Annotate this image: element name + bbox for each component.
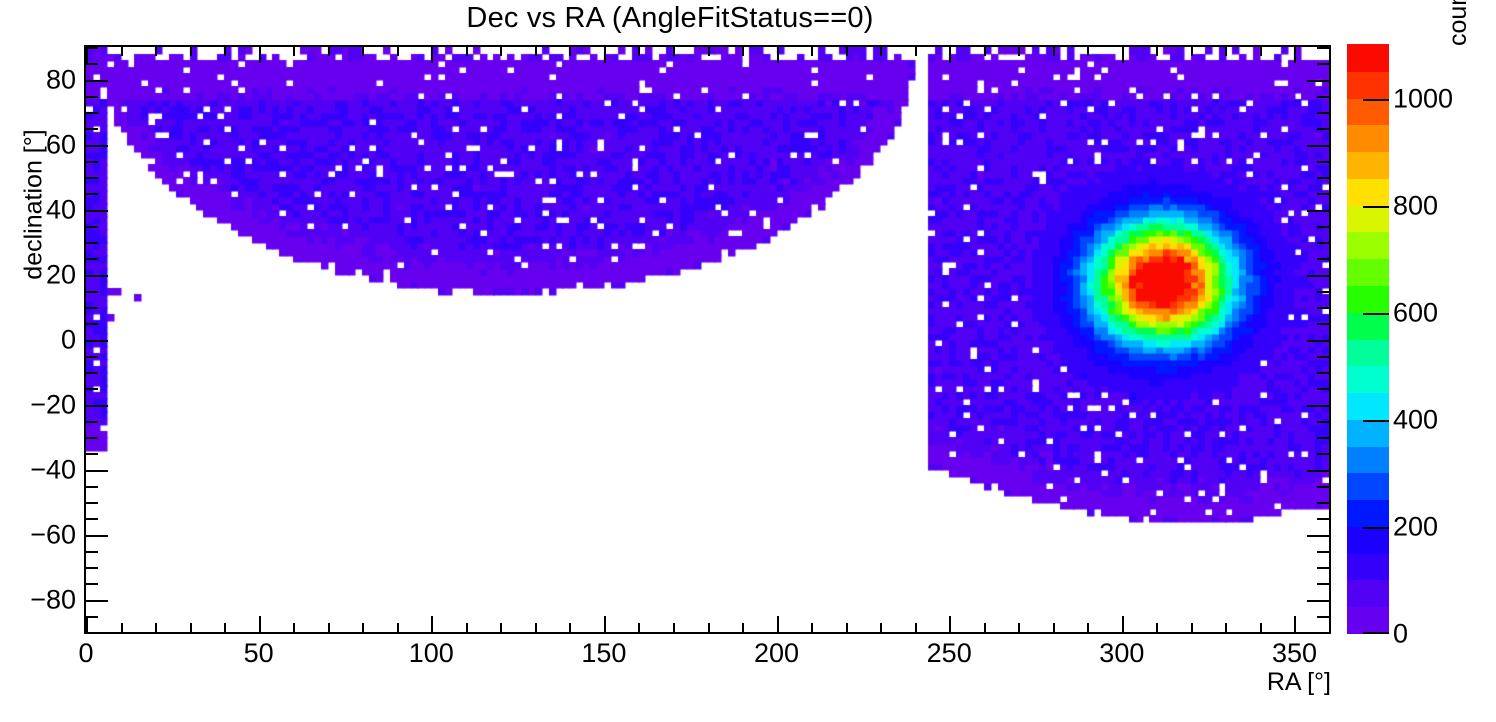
y-minor-tick bbox=[86, 486, 98, 488]
x-major-tick bbox=[1122, 616, 1124, 632]
x-minor-tick-top bbox=[328, 47, 330, 56]
y-minor-tick bbox=[86, 323, 98, 325]
colorbar-band bbox=[1347, 419, 1389, 446]
y-major-tick bbox=[86, 405, 108, 407]
x-minor-tick-top bbox=[915, 47, 917, 56]
y-tick-label: 60 bbox=[46, 129, 76, 160]
x-minor-tick-top bbox=[880, 47, 882, 56]
y-minor-tick-right bbox=[1317, 486, 1329, 488]
x-minor-tick bbox=[500, 623, 502, 632]
y-minor-tick bbox=[86, 96, 98, 98]
y-minor-tick bbox=[86, 193, 98, 195]
colorbar-band bbox=[1347, 232, 1389, 259]
x-minor-tick-top bbox=[1087, 47, 1089, 56]
y-major-tick-right bbox=[1307, 145, 1329, 147]
colorbar-tick bbox=[1363, 313, 1389, 315]
y-minor-tick bbox=[86, 583, 98, 585]
x-minor-tick-top bbox=[708, 47, 710, 56]
y-minor-tick bbox=[86, 421, 98, 423]
x-major-tick-top bbox=[431, 47, 433, 63]
x-major-tick-top bbox=[949, 47, 951, 63]
y-minor-tick-right bbox=[1317, 356, 1329, 358]
x-tick-label: 50 bbox=[244, 638, 274, 669]
x-minor-tick bbox=[293, 623, 295, 632]
y-tick-label: −60 bbox=[30, 519, 76, 550]
x-minor-tick bbox=[535, 623, 537, 632]
y-tick-label: −80 bbox=[30, 584, 76, 615]
y-minor-tick bbox=[86, 226, 98, 228]
y-minor-tick bbox=[86, 551, 98, 553]
x-minor-tick-top bbox=[1053, 47, 1055, 56]
x-tick-label: 300 bbox=[1099, 638, 1144, 669]
y-minor-tick bbox=[86, 161, 98, 163]
colorbar-band bbox=[1347, 473, 1389, 500]
x-minor-tick-top bbox=[155, 47, 157, 56]
y-tick-label: 0 bbox=[61, 324, 76, 355]
colorbar-tick-label: 600 bbox=[1393, 297, 1438, 328]
x-minor-tick bbox=[328, 623, 330, 632]
x-minor-tick-top bbox=[673, 47, 675, 56]
y-minor-tick-right bbox=[1317, 323, 1329, 325]
x-major-tick-top bbox=[1122, 47, 1124, 63]
x-major-tick bbox=[86, 616, 88, 632]
x-minor-tick-top bbox=[121, 47, 123, 56]
colorbar-tick-label: 400 bbox=[1393, 404, 1438, 435]
x-minor-tick bbox=[1260, 623, 1262, 632]
y-minor-tick-right bbox=[1317, 551, 1329, 553]
x-minor-tick bbox=[1156, 623, 1158, 632]
colorbar-band bbox=[1347, 312, 1389, 339]
y-minor-tick-right bbox=[1317, 193, 1329, 195]
y-minor-tick-right bbox=[1317, 437, 1329, 439]
x-minor-tick-top bbox=[466, 47, 468, 56]
x-minor-tick-top bbox=[569, 47, 571, 56]
x-minor-tick-top bbox=[293, 47, 295, 56]
x-major-tick-top bbox=[86, 47, 88, 63]
y-minor-tick-right bbox=[1317, 421, 1329, 423]
y-minor-tick bbox=[86, 518, 98, 520]
y-major-tick-right bbox=[1307, 600, 1329, 602]
x-minor-tick bbox=[846, 623, 848, 632]
colorbar-band bbox=[1347, 259, 1389, 286]
x-minor-tick-top bbox=[1225, 47, 1227, 56]
y-major-tick bbox=[86, 80, 108, 82]
y-minor-tick bbox=[86, 128, 98, 130]
y-minor-tick bbox=[86, 567, 98, 569]
x-minor-tick-top bbox=[535, 47, 537, 56]
colorbar-tick-label: 200 bbox=[1393, 511, 1438, 542]
y-minor-tick-right bbox=[1317, 453, 1329, 455]
page-title: Dec vs RA (AngleFitStatus==0) bbox=[0, 2, 1340, 35]
plot-frame bbox=[84, 45, 1331, 634]
x-minor-tick bbox=[638, 623, 640, 632]
y-minor-tick-right bbox=[1317, 372, 1329, 374]
x-minor-tick bbox=[1053, 623, 1055, 632]
y-minor-tick-right bbox=[1317, 291, 1329, 293]
colorbar-band bbox=[1347, 71, 1389, 98]
x-minor-tick-top bbox=[1191, 47, 1193, 56]
x-major-tick-top bbox=[259, 47, 261, 63]
x-minor-tick-top bbox=[500, 47, 502, 56]
colorbar-tick bbox=[1363, 527, 1389, 529]
colorbar-band bbox=[1347, 339, 1389, 366]
y-minor-tick-right bbox=[1317, 518, 1329, 520]
y-tick-label: 20 bbox=[46, 259, 76, 290]
y-minor-tick bbox=[86, 258, 98, 260]
colorbar-band bbox=[1347, 178, 1389, 205]
root-canvas: Dec vs RA (AngleFitStatus==0) 0501001502… bbox=[0, 0, 1496, 722]
y-minor-tick-right bbox=[1317, 583, 1329, 585]
x-minor-tick bbox=[224, 623, 226, 632]
colorbar-band bbox=[1347, 125, 1389, 152]
colorbar-band bbox=[1347, 553, 1389, 580]
colorbar-band bbox=[1347, 392, 1389, 419]
x-major-tick bbox=[431, 616, 433, 632]
x-minor-tick-top bbox=[224, 47, 226, 56]
y-major-tick-right bbox=[1307, 275, 1329, 277]
colorbar-tick bbox=[1363, 206, 1389, 208]
y-minor-tick-right bbox=[1317, 112, 1329, 114]
x-tick-label: 250 bbox=[927, 638, 972, 669]
y-minor-tick-right bbox=[1317, 161, 1329, 163]
x-minor-tick bbox=[915, 623, 917, 632]
y-major-tick bbox=[86, 600, 108, 602]
y-minor-tick-right bbox=[1317, 177, 1329, 179]
x-minor-tick bbox=[466, 623, 468, 632]
histogram-canvas bbox=[86, 47, 1329, 632]
x-major-tick bbox=[949, 616, 951, 632]
x-minor-tick bbox=[397, 623, 399, 632]
y-minor-tick bbox=[86, 616, 98, 618]
colorbar-band bbox=[1347, 366, 1389, 393]
x-minor-tick-top bbox=[984, 47, 986, 56]
y-tick-label: 40 bbox=[46, 194, 76, 225]
y-minor-tick bbox=[86, 388, 98, 390]
y-minor-tick-right bbox=[1317, 567, 1329, 569]
y-minor-tick bbox=[86, 632, 98, 634]
x-minor-tick bbox=[1018, 623, 1020, 632]
y-minor-tick bbox=[86, 291, 98, 293]
y-major-tick bbox=[86, 145, 108, 147]
x-minor-tick-top bbox=[1156, 47, 1158, 56]
x-minor-tick bbox=[984, 623, 986, 632]
x-minor-tick bbox=[155, 623, 157, 632]
y-tick-label: −40 bbox=[30, 454, 76, 485]
y-minor-tick bbox=[86, 112, 98, 114]
x-major-tick bbox=[604, 616, 606, 632]
x-minor-tick bbox=[1191, 623, 1193, 632]
colorbar-tick bbox=[1363, 632, 1389, 634]
y-minor-tick-right bbox=[1317, 616, 1329, 618]
colorbar-tick-label: 1000 bbox=[1393, 83, 1453, 114]
y-axis-title: declination [°] bbox=[20, 85, 49, 325]
y-major-tick bbox=[86, 275, 108, 277]
y-minor-tick-right bbox=[1317, 226, 1329, 228]
y-minor-tick-right bbox=[1317, 258, 1329, 260]
x-minor-tick-top bbox=[742, 47, 744, 56]
y-minor-tick bbox=[86, 63, 98, 65]
x-tick-label: 350 bbox=[1272, 638, 1317, 669]
x-major-tick bbox=[259, 616, 261, 632]
colorbar-tick bbox=[1363, 420, 1389, 422]
colorbar-band bbox=[1347, 607, 1389, 634]
y-major-tick bbox=[86, 535, 108, 537]
x-minor-tick-top bbox=[1018, 47, 1020, 56]
y-minor-tick bbox=[86, 307, 98, 309]
colorbar bbox=[1347, 45, 1389, 634]
y-minor-tick-right bbox=[1317, 128, 1329, 130]
x-minor-tick bbox=[121, 623, 123, 632]
colorbar-tick-label: 800 bbox=[1393, 190, 1438, 221]
colorbar-tick bbox=[1363, 99, 1389, 101]
y-minor-tick bbox=[86, 437, 98, 439]
colorbar-band bbox=[1347, 580, 1389, 607]
colorbar-band bbox=[1347, 285, 1389, 312]
y-major-tick-right bbox=[1307, 80, 1329, 82]
x-major-tick-top bbox=[777, 47, 779, 63]
y-minor-tick bbox=[86, 453, 98, 455]
x-minor-tick-top bbox=[1329, 47, 1331, 56]
colorbar-band bbox=[1347, 500, 1389, 527]
y-minor-tick-right bbox=[1317, 388, 1329, 390]
x-minor-tick-top bbox=[638, 47, 640, 56]
x-major-tick bbox=[1294, 616, 1296, 632]
colorbar-tick-label: 0 bbox=[1393, 619, 1408, 650]
x-tick-label: 0 bbox=[78, 638, 93, 669]
y-major-tick-right bbox=[1307, 470, 1329, 472]
colorbar-band bbox=[1347, 205, 1389, 232]
x-minor-tick bbox=[673, 623, 675, 632]
y-minor-tick bbox=[86, 242, 98, 244]
y-minor-tick bbox=[86, 502, 98, 504]
x-axis-title: RA [°] bbox=[1267, 668, 1331, 697]
x-minor-tick bbox=[362, 623, 364, 632]
x-minor-tick-top bbox=[1260, 47, 1262, 56]
x-tick-label: 200 bbox=[754, 638, 799, 669]
y-minor-tick bbox=[86, 177, 98, 179]
x-minor-tick bbox=[1225, 623, 1227, 632]
y-minor-tick-right bbox=[1317, 63, 1329, 65]
x-minor-tick-top bbox=[811, 47, 813, 56]
colorbar-band bbox=[1347, 44, 1389, 71]
y-major-tick bbox=[86, 210, 108, 212]
x-minor-tick bbox=[742, 623, 744, 632]
y-major-tick bbox=[86, 470, 108, 472]
x-major-tick-top bbox=[1294, 47, 1296, 63]
x-major-tick-top bbox=[604, 47, 606, 63]
y-minor-tick-right bbox=[1317, 502, 1329, 504]
x-minor-tick-top bbox=[362, 47, 364, 56]
y-minor-tick bbox=[86, 356, 98, 358]
y-minor-tick-right bbox=[1317, 47, 1329, 49]
y-tick-label: 80 bbox=[46, 64, 76, 95]
y-minor-tick-right bbox=[1317, 632, 1329, 634]
colorbar-band bbox=[1347, 526, 1389, 553]
x-minor-tick bbox=[811, 623, 813, 632]
y-minor-tick-right bbox=[1317, 96, 1329, 98]
y-major-tick-right bbox=[1307, 210, 1329, 212]
y-major-tick-right bbox=[1307, 535, 1329, 537]
y-major-tick-right bbox=[1307, 405, 1329, 407]
x-minor-tick-top bbox=[397, 47, 399, 56]
x-tick-label: 150 bbox=[581, 638, 626, 669]
x-minor-tick bbox=[1087, 623, 1089, 632]
colorbar-title: count bbox=[1444, 0, 1473, 46]
x-minor-tick bbox=[880, 623, 882, 632]
x-minor-tick bbox=[1329, 623, 1331, 632]
x-minor-tick-top bbox=[190, 47, 192, 56]
x-minor-tick bbox=[708, 623, 710, 632]
x-minor-tick bbox=[190, 623, 192, 632]
x-major-tick bbox=[777, 616, 779, 632]
y-major-tick bbox=[86, 340, 108, 342]
y-tick-label: −20 bbox=[30, 389, 76, 420]
colorbar-band bbox=[1347, 98, 1389, 125]
y-minor-tick bbox=[86, 372, 98, 374]
y-minor-tick-right bbox=[1317, 242, 1329, 244]
x-minor-tick bbox=[569, 623, 571, 632]
x-tick-label: 100 bbox=[409, 638, 454, 669]
x-minor-tick-top bbox=[846, 47, 848, 56]
colorbar-band bbox=[1347, 152, 1389, 179]
y-major-tick-right bbox=[1307, 340, 1329, 342]
y-minor-tick-right bbox=[1317, 307, 1329, 309]
y-minor-tick bbox=[86, 47, 98, 49]
colorbar-band bbox=[1347, 446, 1389, 473]
